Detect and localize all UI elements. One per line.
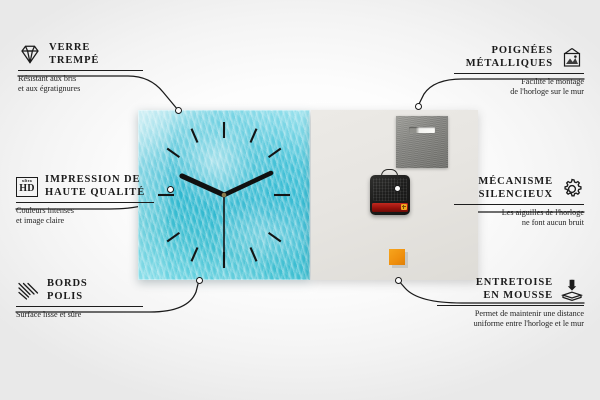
feature-subtitle: Surface lisse et sûre (16, 310, 146, 320)
battery-plus-terminal (401, 204, 407, 210)
marker-verre-trempe (175, 107, 182, 114)
clock-hand-hour (182, 176, 224, 195)
feature-rule (16, 306, 143, 307)
feature-mecanisme-silencieux: MÉCANISME SILENCIEUX Les aiguilles de l'… (454, 176, 584, 228)
feature-subtitle: Permet de maintenir une distance uniform… (437, 309, 584, 329)
mechanism-texture (373, 178, 407, 201)
foam-spacer-arrow-icon (560, 278, 584, 302)
clock-face (138, 110, 310, 280)
feature-rule (18, 70, 143, 71)
clock-hand-minute (224, 173, 271, 195)
feature-impression-haute-qualite: ultra HD IMPRESSION DE HAUTE QUALITÉ Cou… (16, 174, 156, 226)
feature-poignees-metalliques: POIGNÉES MÉTALLIQUES Facilite le montage… (454, 45, 584, 97)
feature-verre-trempe: VERRE TREMPÉ Résistant aux bris et aux é… (18, 42, 148, 94)
infographic-canvas: VERRE TREMPÉ Résistant aux bris et aux é… (0, 0, 600, 400)
hanging-frame-icon (560, 47, 584, 69)
feature-title: POIGNÉES MÉTALLIQUES (466, 45, 553, 70)
polished-edges-icon (16, 280, 40, 301)
feature-subtitle: Couleurs intenses et image claire (16, 206, 156, 226)
feature-subtitle: Résistant aux bris et aux égratignures (18, 74, 148, 94)
feature-entretoise-en-mousse: ENTRETOISE EN MOUSSE Permet de maintenir… (437, 277, 584, 329)
feature-bords-polis: BORDS POLIS Surface lisse et sûre (16, 278, 146, 320)
marker-poignees (415, 103, 422, 110)
feature-title: BORDS POLIS (47, 278, 88, 303)
diamond-icon (18, 44, 42, 65)
feature-title: IMPRESSION DE HAUTE QUALITÉ (45, 174, 145, 199)
feature-rule (454, 204, 584, 205)
marker-impression (167, 186, 174, 193)
metal-hanger-plate (396, 116, 448, 168)
feature-title: ENTRETOISE EN MOUSSE (476, 277, 553, 302)
battery (372, 203, 408, 212)
marker-bords-polis (196, 277, 203, 284)
feature-title: VERRE TREMPÉ (49, 42, 99, 67)
feature-subtitle: Facilite le montage de l'horloge sur le … (454, 77, 584, 97)
feature-rule (16, 202, 154, 203)
gear-icon (560, 177, 584, 201)
ultra-hd-main-label: HD (19, 184, 35, 194)
clock-center-cap (222, 193, 227, 198)
feature-subtitle: Les aiguilles de l'horloge ne font aucun… (454, 208, 584, 228)
feature-title: MÉCANISME SILENCIEUX (478, 176, 553, 201)
hanger-slot (409, 127, 435, 133)
foam-spacer (389, 249, 405, 265)
ultra-hd-badge-icon: ultra HD (16, 177, 38, 197)
marker-mecanisme (394, 185, 401, 192)
product-clock-front (138, 110, 310, 280)
quartz-mechanism-box (370, 175, 410, 215)
marker-entretoise (395, 277, 402, 284)
feature-rule (437, 305, 584, 306)
feature-rule (454, 73, 584, 74)
product-clock-back (311, 110, 478, 280)
mechanism-hanger-loop-visual (381, 169, 398, 180)
